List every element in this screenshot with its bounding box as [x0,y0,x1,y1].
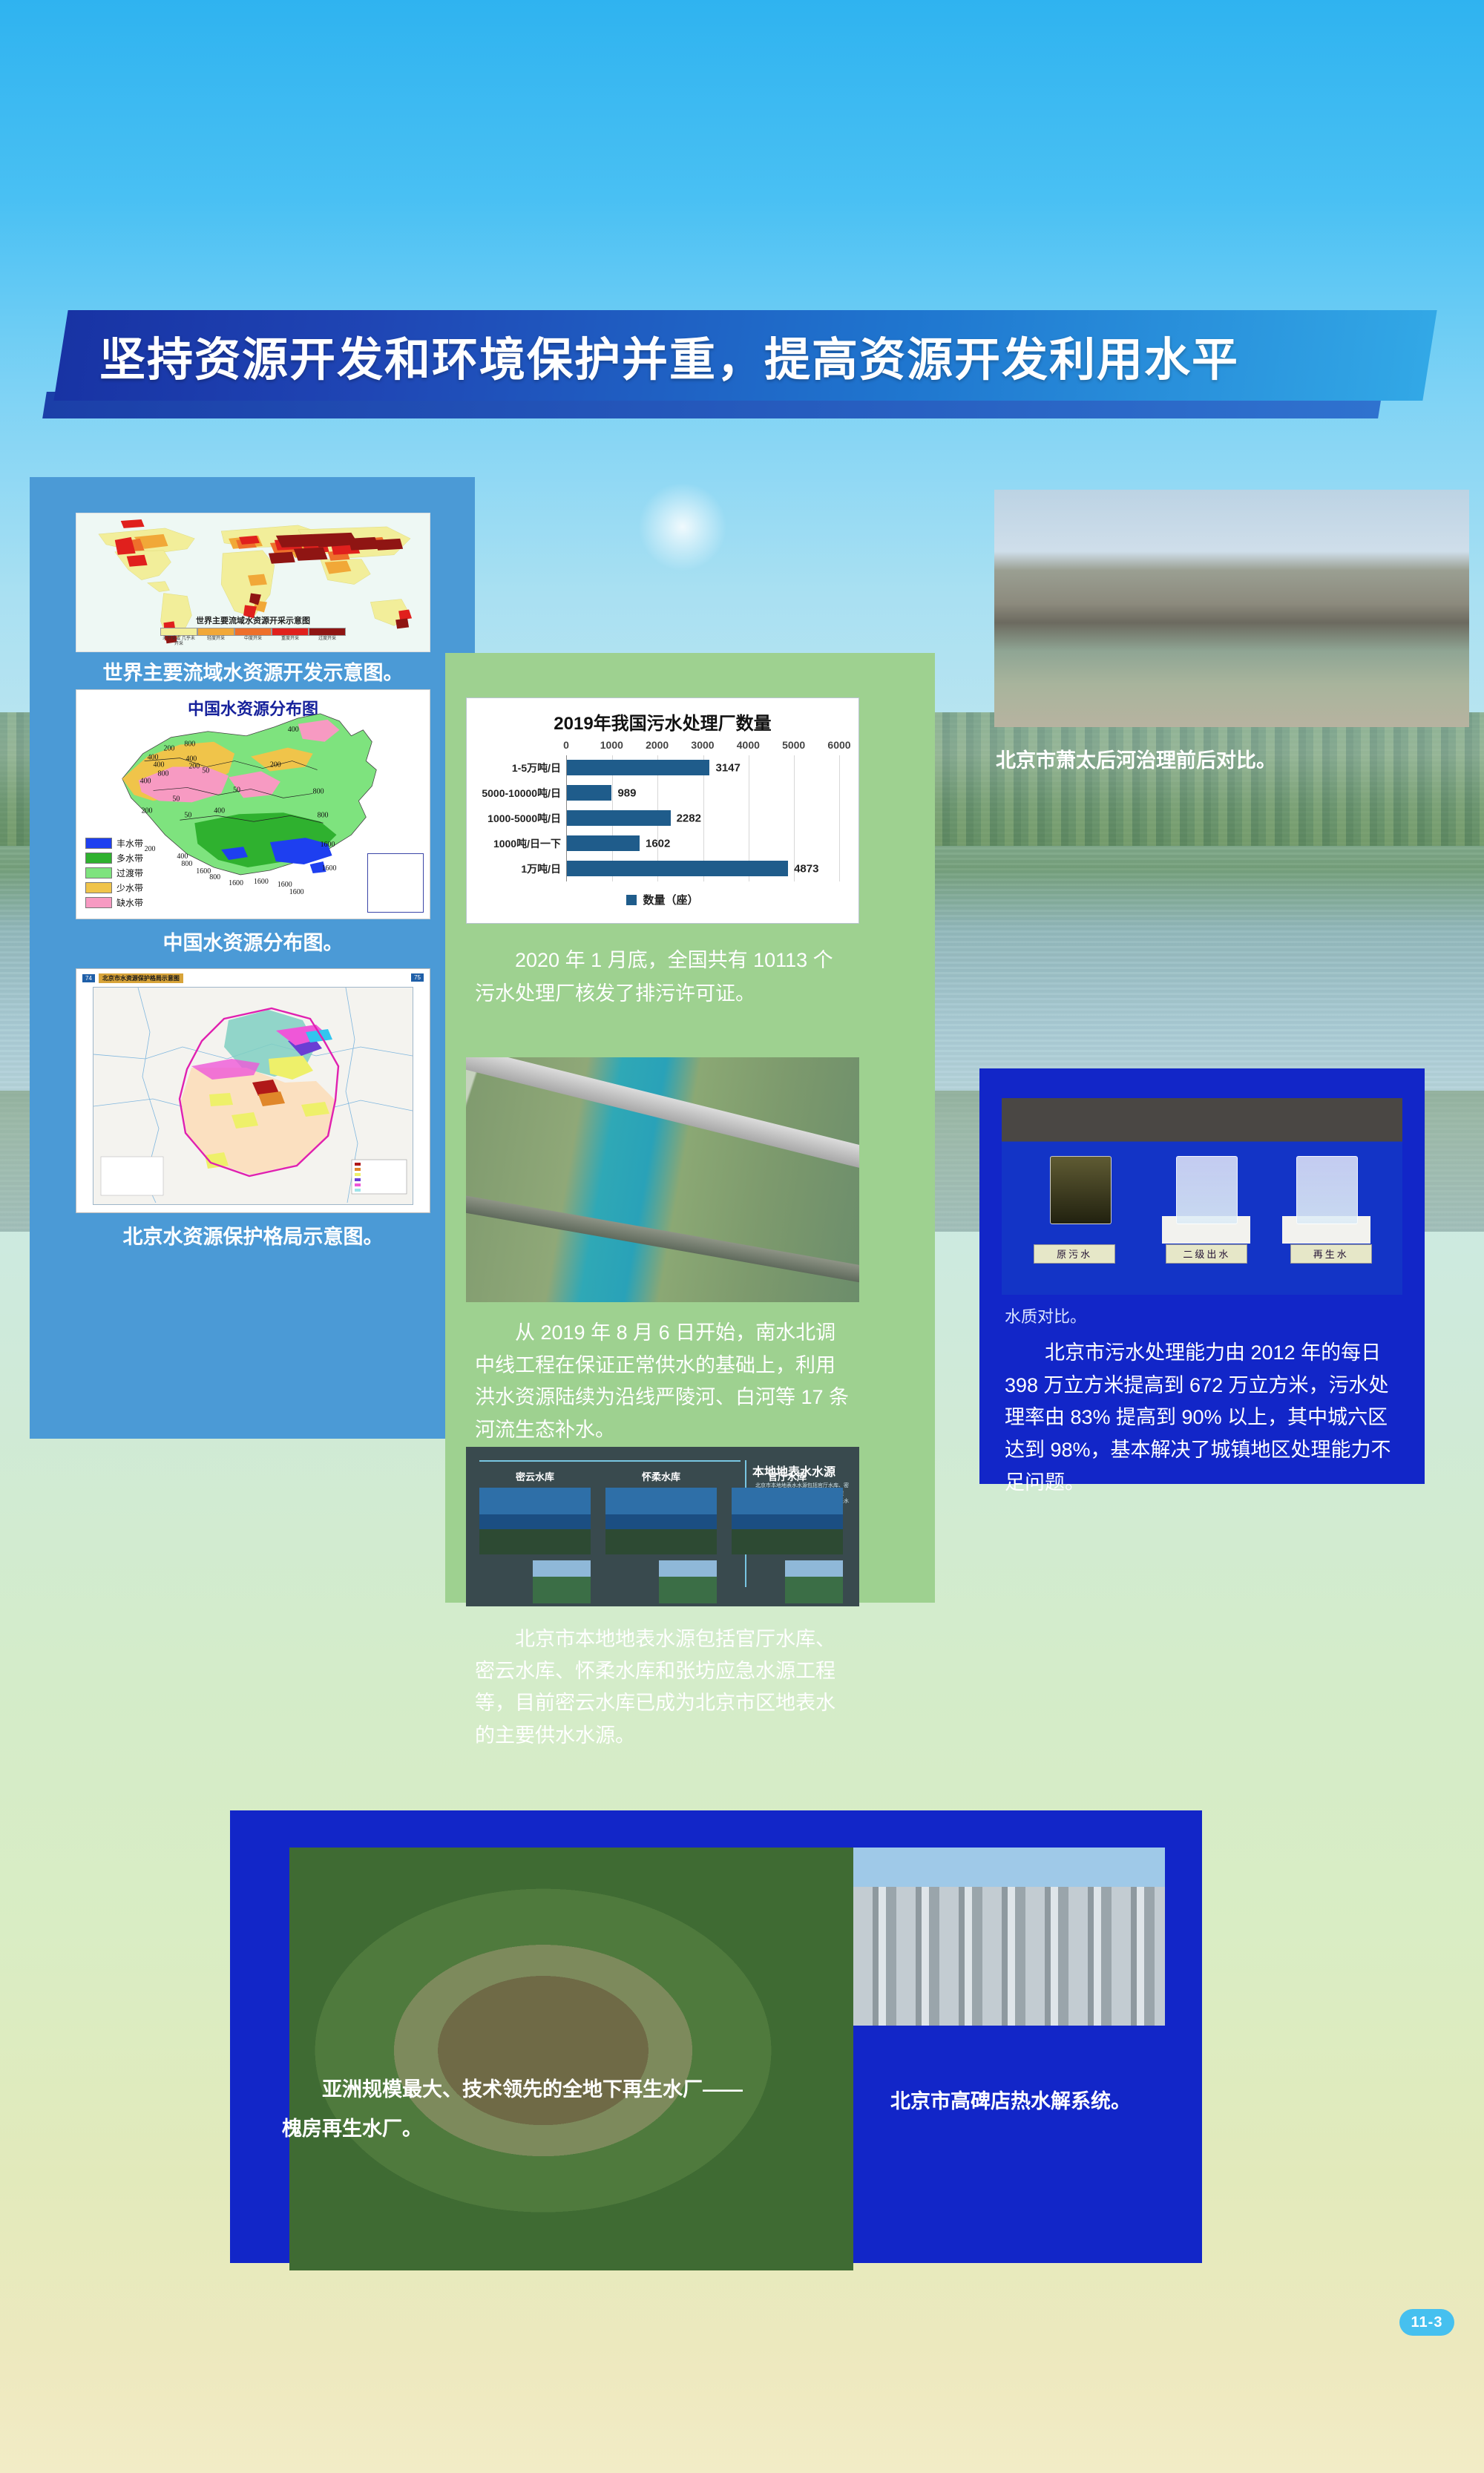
legend-item: 过渡带 [85,867,143,879]
svg-text:1600: 1600 [254,878,269,886]
chart-bar-row: 1000-5000吨/日 2282 [567,806,839,831]
water-quality-comparison-photo: 原污水 二级出水 再生水 [1002,1098,1402,1295]
chart-x-axis: 0 1000 2000 3000 4000 5000 6000 [566,739,839,755]
svg-text:1600: 1600 [322,864,337,873]
svg-text:1600: 1600 [321,841,335,849]
chart-area: 0 1000 2000 3000 4000 5000 6000 1-5万吨/日 … [477,739,848,887]
capacity-text: 北京市污水处理能力由 2012 年的每日 398 万立方米提高到 672 万立方… [1005,1337,1402,1500]
gaobeidian-thermal-hydrolysis-photo [853,1848,1165,2026]
china-map-inset [367,853,424,913]
legend-swatch [272,628,309,636]
svg-text:200: 200 [188,763,200,771]
legend-label: 丰水带 [116,837,143,850]
x-tick: 5000 [782,739,805,751]
world-map-legend: 未开采或 几乎未开采 轻度开采 中度开采 重度开采 过度开采 [160,628,346,647]
canal-caption: 从 2019 年 8 月 6 日开始，南水北调中线工程在保证正常供水的基础上，利… [475,1317,850,1447]
world-water-withdrawal-map: 世界主要流域水资源开采示意图 未开采或 几乎未开采 轻度开采 中度开采 重度开采… [76,513,430,652]
legend-item: 丰水带 [85,837,143,850]
svg-text:200: 200 [142,807,153,815]
legend-swatch [309,628,346,636]
wastewater-plants-chart: 2019年我国污水处理厂数量 0 1000 2000 3000 4000 500… [466,697,859,924]
svg-text:800: 800 [158,770,169,778]
svg-text:800: 800 [313,787,324,795]
chart-bar [567,835,640,851]
legend-swatch [85,882,112,893]
bottom-blue-panel: 北京市高碑店热水解系统。 [230,1810,1202,2263]
legend-item: 重度开采 [272,628,309,647]
reservoir-photo [732,1488,843,1554]
svg-text:400: 400 [288,726,299,734]
chart-bar [567,861,788,876]
reservoir-name: 怀柔水库 [605,1469,717,1483]
middle-green-panel: 2019年我国污水处理厂数量 0 1000 2000 3000 4000 500… [445,653,935,1603]
bar-value-label: 2282 [677,812,701,825]
water-quality-caption: 水质对比。 [1005,1304,1086,1329]
x-tick: 3000 [691,739,714,751]
china-water-distribution-map: 中国水资源分布图 200800 400400 400200 80050 4 [76,689,430,919]
banner-body: 坚持资源开发和环境保护并重，提高资源开发利用水平 [53,310,1437,401]
bar-value-label: 989 [617,787,636,800]
south-north-water-canal-photo [466,1057,859,1302]
water-quality-panel: 原污水 二级出水 再生水 水质对比。 北京市污水处理能力由 2012 年的每日 … [979,1068,1425,1484]
svg-text:800: 800 [184,740,195,749]
panel-rule [479,1460,741,1462]
reservoir-name: 密云水库 [479,1469,591,1483]
svg-text:50: 50 [184,811,191,819]
bar-category-label: 1万吨/日 [521,861,561,876]
river-caption: 北京市萧太后河治理前后对比。 [996,746,1471,776]
legend-item: 缺水带 [85,896,143,909]
legend-item: 过度开采 [309,628,346,647]
legend-swatch [85,867,112,878]
legend-label: 缺水带 [116,896,143,909]
svg-text:50: 50 [172,795,180,803]
sun-flare-decoration [638,482,727,571]
chart-bar [567,785,611,801]
raw-sewage-beaker [1050,1156,1112,1224]
chart-bar-row: 1000吨/日一下 1602 [567,831,839,856]
chart-bar-row: 1万吨/日 4873 [567,856,839,881]
reservoir-photo-secondary [659,1560,717,1603]
reservoir-photo-secondary [785,1560,843,1603]
bjmap-header: 74 北京市水资源保护格局示意图 [82,973,183,983]
reservoir-photo-secondary [533,1560,591,1603]
gridline [839,755,840,881]
bjmap-page-right: 75 [411,973,424,982]
chart-title: 2019年我国污水处理厂数量 [467,709,858,735]
legend-swatch [85,897,112,908]
svg-text:800: 800 [318,811,329,819]
x-tick: 2000 [646,739,669,751]
x-tick: 4000 [737,739,760,751]
reservoir-caption: 北京市本地地表水源包括官厅水库、密云水库、怀柔水库和张坊应急水源工程等，目前密云… [475,1623,850,1752]
world-map-caption: 世界主要流域水资源开发示意图。 [76,658,430,689]
bar-category-label: 1000-5000吨/日 [487,811,561,826]
reservoir-photo [479,1488,591,1554]
svg-text:400: 400 [140,777,151,785]
legend-swatch [626,895,637,905]
reservoir-column: 密云水库 [479,1469,591,1603]
svg-text:1600: 1600 [229,879,243,887]
chart-plot: 1-5万吨/日 3147 5000-10000吨/日 989 1000-5000… [566,755,839,881]
svg-text:1600: 1600 [289,888,304,896]
legend-label: 未开采或 几乎未开采 [161,637,197,647]
legend-item: 少水带 [85,881,143,894]
beaker-label: 原污水 [1034,1244,1115,1264]
xiaotaihou-river-before-photo [994,490,1469,727]
chart-bar [567,810,671,826]
chart-caption: 2020 年 1 月底，全国共有 10113 个污水处理厂核发了排污许可证。 [475,944,846,1010]
svg-text:400: 400 [154,761,165,769]
x-tick: 0 [563,739,569,751]
bjmap-body [93,987,413,1205]
legend-item: 轻度开采 [197,628,234,647]
world-map-title: 世界主要流域水资源开采示意图 [76,614,430,626]
legend-swatch [234,628,272,636]
legend-label: 过渡带 [116,867,143,879]
china-map-legend: 丰水带 多水带 过渡带 少水带 缺水带 [85,837,143,911]
svg-text:50: 50 [202,767,209,775]
chart-bar [567,760,709,775]
x-tick: 1000 [600,739,623,751]
bar-value-label: 1602 [646,838,670,850]
legend-item: 中度开采 [234,628,272,647]
chart-legend: 数量（座） [467,892,858,907]
title-banner: 坚持资源开发和环境保护并重，提高资源开发利用水平 [0,310,1484,421]
legend-swatch [160,628,197,636]
bar-category-label: 1000吨/日一下 [493,836,561,851]
page-title: 坚持资源开发和环境保护并重，提高资源开发利用水平 [99,322,1239,389]
x-tick: 6000 [827,739,850,751]
legend-swatch [85,838,112,849]
local-surface-water-panel: 本地地表水水源 北京市本地地表水水源包括官厅水库、密云水库、怀柔水库和张坊应急水… [466,1447,859,1606]
reservoir-column: 怀柔水库 [605,1469,717,1603]
beaker-label: 二级出水 [1166,1244,1247,1264]
legend-label: 重度开采 [272,637,308,642]
legend-label: 中度开采 [235,637,271,642]
svg-text:200: 200 [163,745,174,753]
legend-swatch [85,853,112,864]
left-maps-panel: 世界主要流域水资源开采示意图 未开采或 几乎未开采 轻度开采 中度开采 重度开采… [30,477,475,1439]
legend-label: 数量（座） [643,892,698,907]
svg-text:800: 800 [181,860,192,868]
bar-category-label: 1-5万吨/日 [512,761,561,775]
tanks-caption: 北京市高碑店热水解系统。 [890,2086,1187,2117]
legend-label: 轻度开采 [198,637,234,642]
legend-item: 多水带 [85,852,143,864]
svg-text:800: 800 [209,873,220,881]
page-number-badge: 11-3 [1399,2309,1454,2336]
bar-value-label: 3147 [715,762,740,775]
bar-value-label: 4873 [794,863,818,876]
bjmap-graphic [93,988,413,1203]
svg-text:200: 200 [145,845,156,853]
beijing-map-caption: 北京水资源保护格局示意图。 [76,1222,430,1252]
china-map-caption: 中国水资源分布图。 [76,928,430,959]
legend-label: 过度开采 [309,637,345,642]
svg-text:200: 200 [270,761,281,769]
svg-text:1600: 1600 [196,867,211,876]
reclaimed-water-beaker [1296,1156,1358,1224]
reservoir-name: 官厅水库 [732,1469,843,1483]
legend-label: 少水带 [116,881,143,894]
reservoir-column: 官厅水库 [732,1469,843,1603]
bjmap-title: 北京市水资源保护格局示意图 [99,973,183,983]
huaifang-reclaimed-water-plant-photo [289,1848,853,2270]
legend-swatch [197,628,234,636]
legend-label: 多水带 [116,852,143,864]
svg-text:50: 50 [233,786,240,794]
secondary-effluent-beaker [1176,1156,1238,1224]
svg-text:400: 400 [214,807,225,815]
chart-bar-row: 1-5万吨/日 3147 [567,755,839,781]
chart-bar-row: 5000-10000吨/日 989 [567,781,839,806]
bjmap-page-left: 74 [82,974,95,982]
beaker-label: 再生水 [1290,1244,1372,1264]
reservoir-photo [605,1488,717,1554]
plant-caption: 亚洲规模最大、技术领先的全地下再生水厂——槐房再生水厂。 [282,2070,757,2148]
bar-category-label: 5000-10000吨/日 [482,786,561,801]
legend-item: 未开采或 几乎未开采 [160,628,197,647]
beijing-water-protection-map: 74 北京市水资源保护格局示意图 75 [76,968,430,1213]
